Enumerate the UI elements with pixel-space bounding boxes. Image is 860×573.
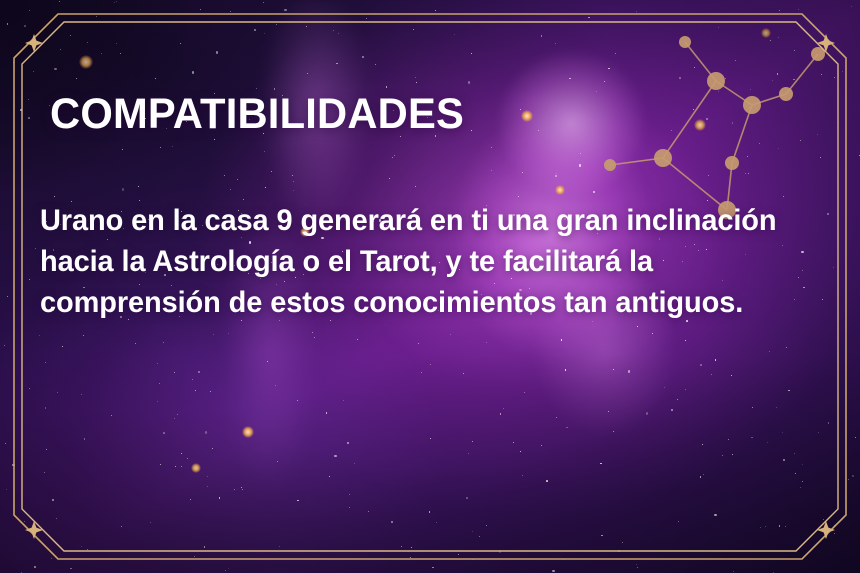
body-paragraph: Urano en la casa 9 generará en ti una gr…: [40, 200, 802, 323]
page-title: COMPATIBILIDADES: [50, 93, 464, 136]
astrology-card: COMPATIBILIDADES Urano en la casa 9 gene…: [0, 0, 860, 573]
